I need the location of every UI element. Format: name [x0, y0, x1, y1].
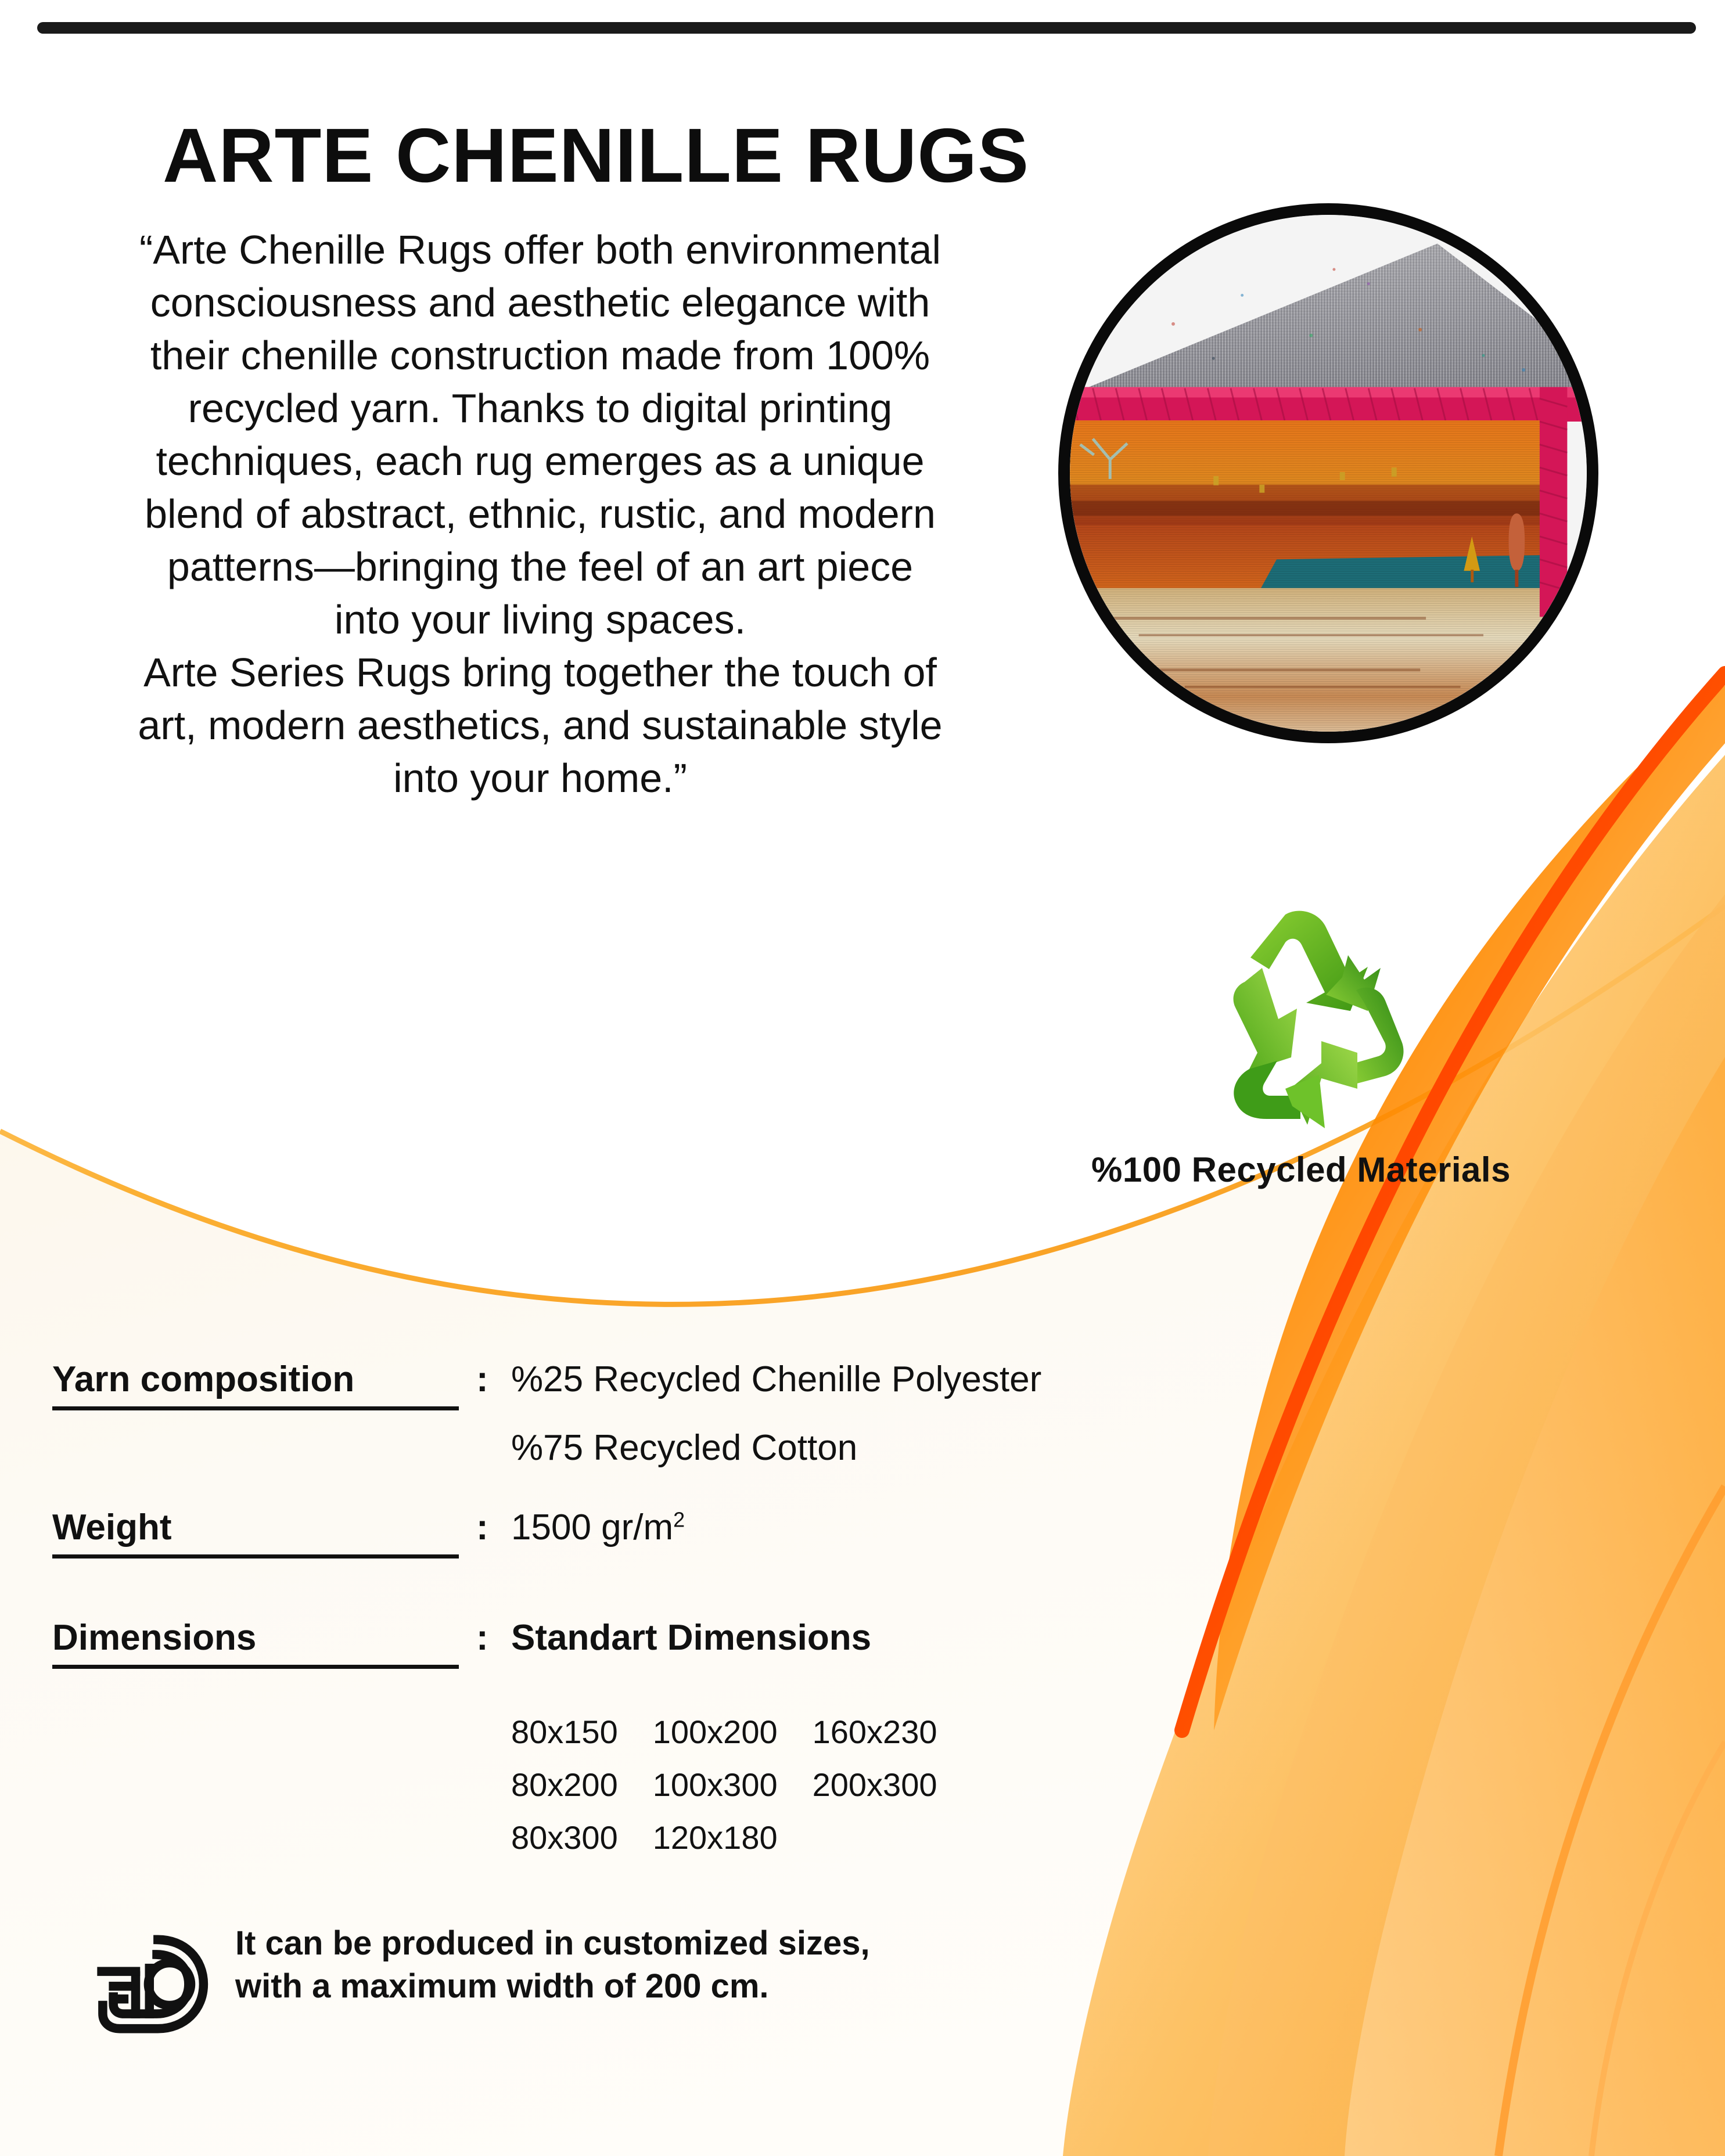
product-photo — [1058, 203, 1598, 743]
dimension-cell: 120x180 — [653, 1819, 813, 1871]
recycle-icon — [1173, 897, 1423, 1141]
spec-label-underline — [52, 1406, 459, 1410]
quote-line: techniques, each rug emerges as a unique — [46, 435, 1034, 488]
dimension-cell: 100x200 — [653, 1713, 813, 1766]
poster-page: ARTE CHENILLE RUGS “Arte Chenille Rugs o… — [0, 0, 1725, 2156]
spec-value: Standart Dimensions — [511, 1617, 871, 1658]
quote-line: into your living spaces. — [46, 593, 1034, 646]
spec-value: %25 Recycled Chenille Polyester — [511, 1359, 1041, 1400]
page-title: ARTE CHENILLE RUGS — [163, 111, 1029, 199]
dimension-cell: 80x150 — [511, 1713, 653, 1766]
spec-colon: : — [476, 1359, 488, 1400]
tape-measure-icon — [90, 1929, 212, 2039]
note-line: It can be produced in customized sizes, — [235, 1922, 870, 1965]
rug-illustration — [1070, 215, 1587, 732]
spec-label: Yarn composition — [52, 1359, 354, 1400]
recycled-materials-caption: %100 Recycled Materials — [987, 1150, 1615, 1190]
note-line: with a maximum width of 200 cm. — [235, 1965, 870, 2008]
dimension-cell: 160x230 — [813, 1713, 972, 1766]
spec-colon: : — [476, 1617, 488, 1658]
spec-value: 1500 gr/m2 — [511, 1507, 685, 1548]
standard-dimensions-grid: 80x150 100x200 160x230 80x200 100x300 20… — [511, 1713, 972, 1871]
quote-line: blend of abstract, ethnic, rustic, and m… — [46, 488, 1034, 541]
spec-label-underline — [52, 1665, 459, 1669]
product-photo-ring — [1058, 203, 1598, 743]
spec-label-underline — [52, 1554, 459, 1558]
dimension-cell: 100x300 — [653, 1766, 813, 1819]
quote-line: into your home.” — [46, 752, 1034, 805]
custom-size-note-text: It can be produced in customized sizes, … — [235, 1922, 870, 2008]
table-row: 80x300 120x180 — [511, 1819, 972, 1871]
quote-line: consciousness and aesthetic elegance wit… — [46, 276, 1034, 329]
quote-line: patterns—bringing the feel of an art pie… — [46, 541, 1034, 593]
spec-value-text: 1500 gr/m — [511, 1507, 673, 1547]
dimension-cell — [813, 1819, 972, 1871]
spec-value: %75 Recycled Cotton — [511, 1427, 857, 1468]
quote-line: their chenille construction made from 10… — [46, 329, 1034, 382]
spec-label: Weight — [52, 1507, 172, 1548]
dimension-cell: 80x200 — [511, 1766, 653, 1819]
spec-label: Dimensions — [52, 1617, 256, 1658]
product-photo-image — [1070, 215, 1587, 732]
spec-value-superscript: 2 — [673, 1507, 685, 1531]
quote-line: art, modern aesthetics, and sustainable … — [46, 699, 1034, 752]
table-row: 80x200 100x300 200x300 — [511, 1766, 972, 1819]
dimension-cell: 80x300 — [511, 1819, 653, 1871]
table-row: 80x150 100x200 160x230 — [511, 1713, 972, 1766]
quote-line: recycled yarn. Thanks to digital printin… — [46, 382, 1034, 435]
spec-colon: : — [476, 1507, 488, 1548]
quote-line: Arte Series Rugs bring together the touc… — [46, 646, 1034, 699]
product-description-quote: “Arte Chenille Rugs offer both environme… — [46, 224, 1034, 805]
dimension-cell: 200x300 — [813, 1766, 972, 1819]
quote-line: “Arte Chenille Rugs offer both environme… — [46, 224, 1034, 276]
